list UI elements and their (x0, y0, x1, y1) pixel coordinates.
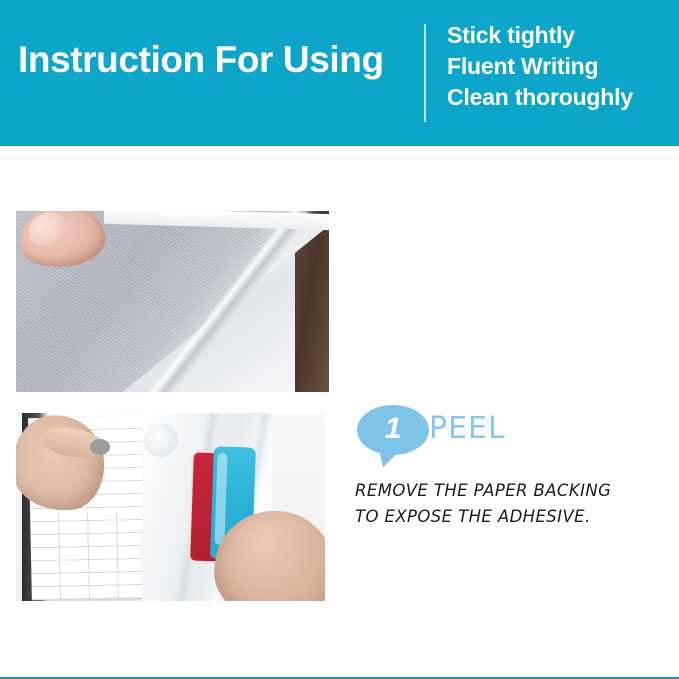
photo-film-gloss (144, 423, 178, 457)
tagline-2: Fluent Writing (447, 51, 679, 82)
step-2-block: 2 APPLY EASILY ATTACHES TO ANY SMOOTH SU… (0, 400, 679, 615)
page-title: Instruction For Using (18, 41, 413, 78)
photo-thumbnail (23, 211, 72, 251)
header-banner: Instruction For Using Stick tightly Flue… (0, 0, 679, 146)
tagline-1: Stick tightly (447, 20, 679, 51)
photo-notebook-grid (30, 512, 154, 601)
header-divider (424, 24, 426, 122)
instruction-page: Instruction For Using Stick tightly Flue… (0, 0, 679, 679)
step-2-photo (16, 413, 325, 601)
photo-finger-tip (90, 439, 110, 455)
step-1-photo (16, 211, 329, 392)
tagline-list: Stick tightly Fluent Writing Clean thoro… (447, 20, 679, 113)
tagline-3: Clean thoroughly (447, 82, 679, 113)
step-1-block: 1 PEEL REMOVE THE PAPER BACKING TO EXPOS… (0, 190, 679, 400)
